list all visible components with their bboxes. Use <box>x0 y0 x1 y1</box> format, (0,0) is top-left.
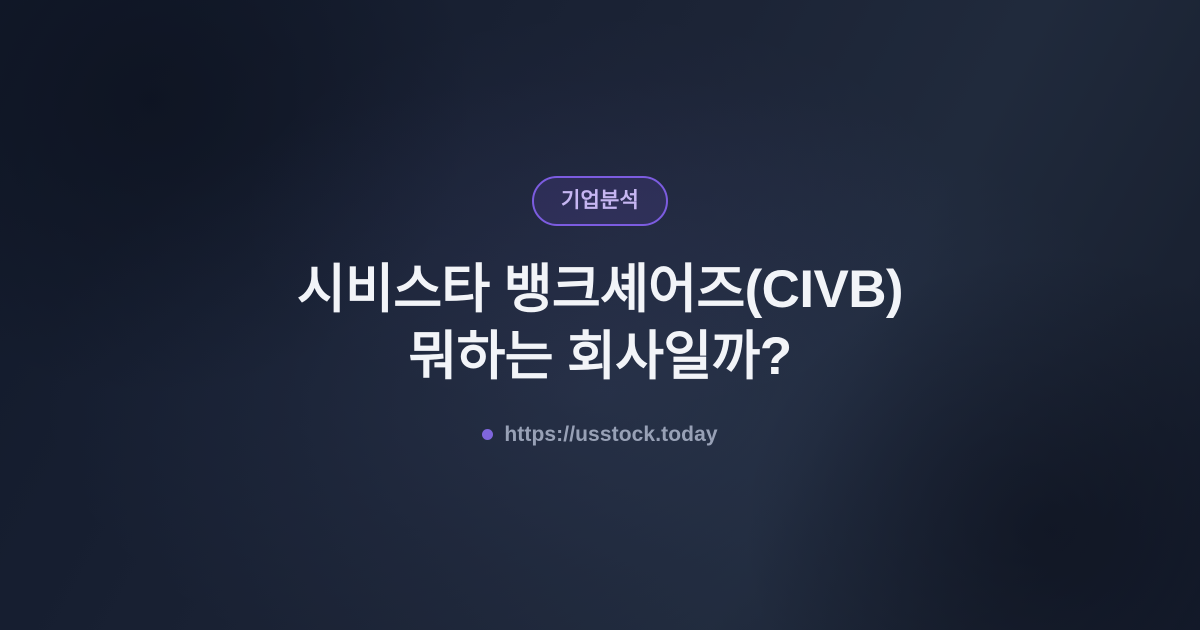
page-title-line-2: 뭐하는 회사일까? <box>297 323 903 390</box>
category-badge: 기업분석 <box>532 176 668 226</box>
card-content: 기업분석 시비스타 뱅크셰어즈(CIVB) 뭐하는 회사일까? https://… <box>0 0 1200 630</box>
site-url-label: https://usstock.today <box>504 424 717 445</box>
bullet-dot-icon <box>482 429 493 440</box>
page-title-line-1: 시비스타 뱅크셰어즈(CIVB) <box>297 256 903 323</box>
category-badge-label: 기업분석 <box>561 190 639 211</box>
page-title: 시비스타 뱅크셰어즈(CIVB) 뭐하는 회사일까? <box>297 256 903 390</box>
open-graph-card: 기업분석 시비스타 뱅크셰어즈(CIVB) 뭐하는 회사일까? https://… <box>0 0 1200 630</box>
site-url-row: https://usstock.today <box>482 424 717 445</box>
